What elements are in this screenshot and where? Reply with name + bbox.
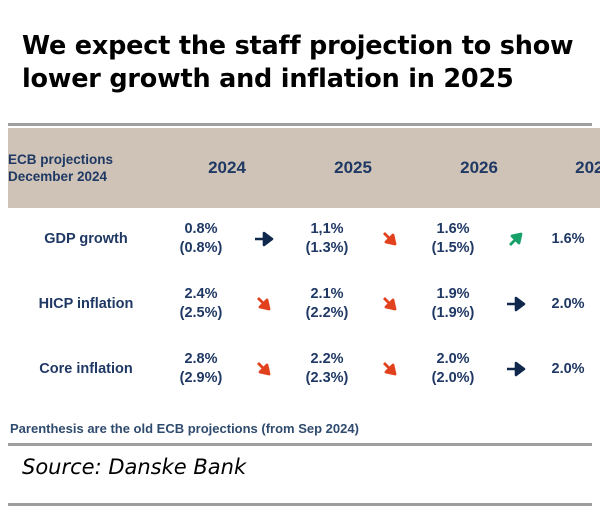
cell-value: 2.0% [437, 351, 470, 367]
table-footnote: Parenthesis are the old ECB projections … [10, 421, 359, 436]
cell-previous-value: (1.5%) [416, 239, 490, 258]
source-top-divider [8, 443, 592, 446]
cell-previous-value: (2.0%) [416, 369, 490, 388]
row-label-gdp-growth: GDP growth [8, 208, 164, 270]
arrow-right-navy-icon [238, 208, 290, 270]
arrow-down-right-red-icon [364, 208, 416, 270]
cell-gdp-2026: 1.6% (1.5%) [416, 208, 490, 270]
corner-label-line2: December 2024 [8, 168, 164, 185]
cell-value: 2.8% [184, 351, 217, 367]
cell-value: 2.0% [552, 361, 585, 377]
corner-label-line1: ECB projections [8, 151, 164, 168]
cell-gdp-2025: 1,1% (1.3%) [290, 208, 364, 270]
source-label: Source: Danske Bank [22, 455, 246, 479]
cell-value: 2.2% [310, 351, 343, 367]
cell-previous-value: (2.5%) [164, 304, 238, 323]
row-label-hicp-inflation: HICP inflation [8, 273, 164, 335]
cell-previous-value: (1.3%) [290, 239, 364, 258]
table-row: HICP inflation 2.4% (2.5%) 2.1% (2.2%) [8, 273, 600, 335]
page-title-line1: We expect the staff projection to show [22, 30, 582, 63]
arrow-down-right-red-icon [364, 338, 416, 400]
cell-value: 0.8% [184, 221, 217, 237]
cell-hicp-2026: 1.9% (1.9%) [416, 273, 490, 335]
table-corner-label: ECB projections December 2024 [8, 128, 164, 208]
cell-value: 1.9% [437, 286, 470, 302]
arrow-up-right-green-icon [490, 208, 542, 270]
cell-core-2025: 2.2% (2.3%) [290, 338, 364, 400]
slide-root: We expect the staff projection to show l… [0, 0, 600, 514]
arrow-right-navy-icon [490, 273, 542, 335]
cell-previous-value: (2.2%) [290, 304, 364, 323]
row-label-core-inflation: Core inflation [8, 338, 164, 400]
ecb-projections-table: ECB projections December 2024 2024 2025 … [8, 128, 600, 400]
table-top-divider [8, 123, 592, 126]
arrow-down-right-red-icon [238, 338, 290, 400]
cell-core-2027: 2.0% [542, 338, 594, 400]
cell-gdp-2027: 1.6% [542, 208, 594, 270]
table-row: GDP growth 0.8% (0.8%) 1,1% (1.3%) [8, 208, 600, 270]
table-row: Core inflation 2.8% (2.9%) 2.2% (2.3%) [8, 338, 600, 400]
cell-hicp-2025: 2.1% (2.2%) [290, 273, 364, 335]
column-header-2024: 2024 [164, 128, 290, 208]
cell-value: 2.4% [184, 286, 217, 302]
cell-value: 2.1% [310, 286, 343, 302]
arrow-right-black-icon [594, 273, 600, 335]
cell-value: 2.0% [552, 296, 585, 312]
cell-previous-value: (1.9%) [416, 304, 490, 323]
column-header-2027: 2027 [542, 128, 600, 208]
cell-previous-value: (2.9%) [164, 369, 238, 388]
cell-previous-value: (2.3%) [290, 369, 364, 388]
cell-value: 1,1% [310, 221, 343, 237]
cell-hicp-2027: 2.0% [542, 273, 594, 335]
arrow-down-right-red-icon [364, 273, 416, 335]
cell-gdp-2024: 0.8% (0.8%) [164, 208, 238, 270]
arrow-right-black-icon [594, 208, 600, 270]
table-header-row: ECB projections December 2024 2024 2025 … [8, 128, 600, 208]
source-bottom-divider [8, 503, 592, 506]
arrow-right-navy-icon [490, 338, 542, 400]
page-title: We expect the staff projection to show l… [22, 30, 582, 96]
cell-hicp-2024: 2.4% (2.5%) [164, 273, 238, 335]
column-header-2026: 2026 [416, 128, 542, 208]
arrow-right-black-icon [594, 338, 600, 400]
column-header-2025: 2025 [290, 128, 416, 208]
cell-core-2024: 2.8% (2.9%) [164, 338, 238, 400]
cell-previous-value: (0.8%) [164, 239, 238, 258]
cell-value: 1.6% [437, 221, 470, 237]
cell-value: 1.6% [552, 231, 585, 247]
cell-core-2026: 2.0% (2.0%) [416, 338, 490, 400]
projections-table-wrapper: ECB projections December 2024 2024 2025 … [8, 128, 592, 400]
page-title-line2: lower growth and inflation in 2025 [22, 63, 582, 96]
arrow-down-right-red-icon [238, 273, 290, 335]
